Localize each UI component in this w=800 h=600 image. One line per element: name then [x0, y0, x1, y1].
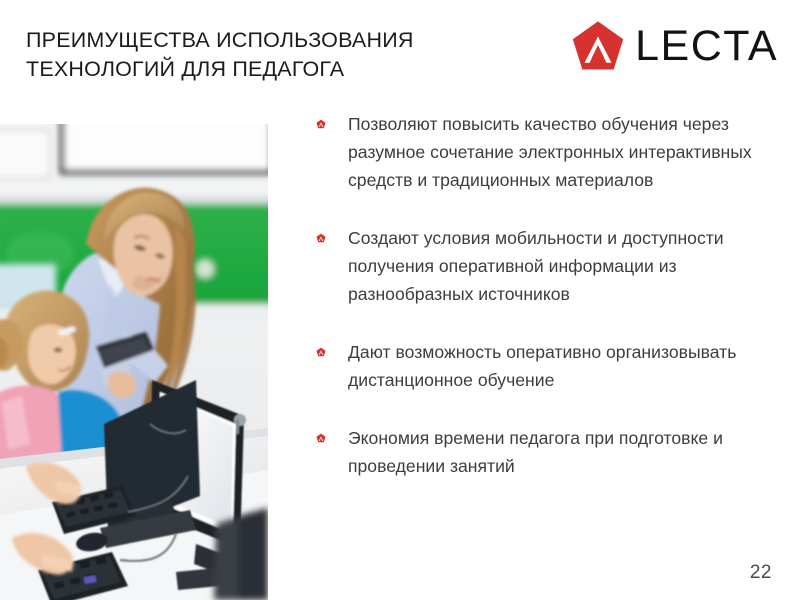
lecta-bullet-icon: [316, 233, 326, 243]
bullet-list: Позволяют повысить качество обучения чер…: [316, 110, 768, 510]
lecta-wordmark: LECTA: [635, 25, 778, 68]
slide: ПРЕИМУЩЕСТВА ИСПОЛЬЗОВАНИЯ ТЕХНОЛОГИЙ ДЛ…: [0, 0, 800, 600]
list-item-text: Позволяют повысить качество обучения чер…: [348, 110, 768, 194]
list-item-text: Экономия времени педагога при подготовке…: [348, 424, 768, 480]
list-item: Дают возможность оперативно организовыва…: [316, 338, 768, 394]
lecta-bullet-icon: [316, 347, 326, 357]
classroom-photo: [0, 124, 268, 600]
lecta-bullet-icon: [316, 119, 326, 129]
page-number: 22: [750, 562, 772, 584]
lecta-bullet-icon: [316, 433, 326, 443]
list-item: Позволяют повысить качество обучения чер…: [316, 110, 768, 194]
list-item: Создают условия мобильности и доступност…: [316, 224, 768, 308]
list-item-text: Создают условия мобильности и доступност…: [348, 224, 768, 308]
list-item: Экономия времени педагога при подготовке…: [316, 424, 768, 480]
page-title: ПРЕИМУЩЕСТВА ИСПОЛЬЗОВАНИЯ ТЕХНОЛОГИЙ ДЛ…: [26, 26, 546, 84]
lecta-logo: LECTA: [570, 18, 778, 74]
list-item-text: Дают возможность оперативно организовыва…: [348, 338, 768, 394]
lecta-pentagon-icon: [570, 18, 626, 74]
